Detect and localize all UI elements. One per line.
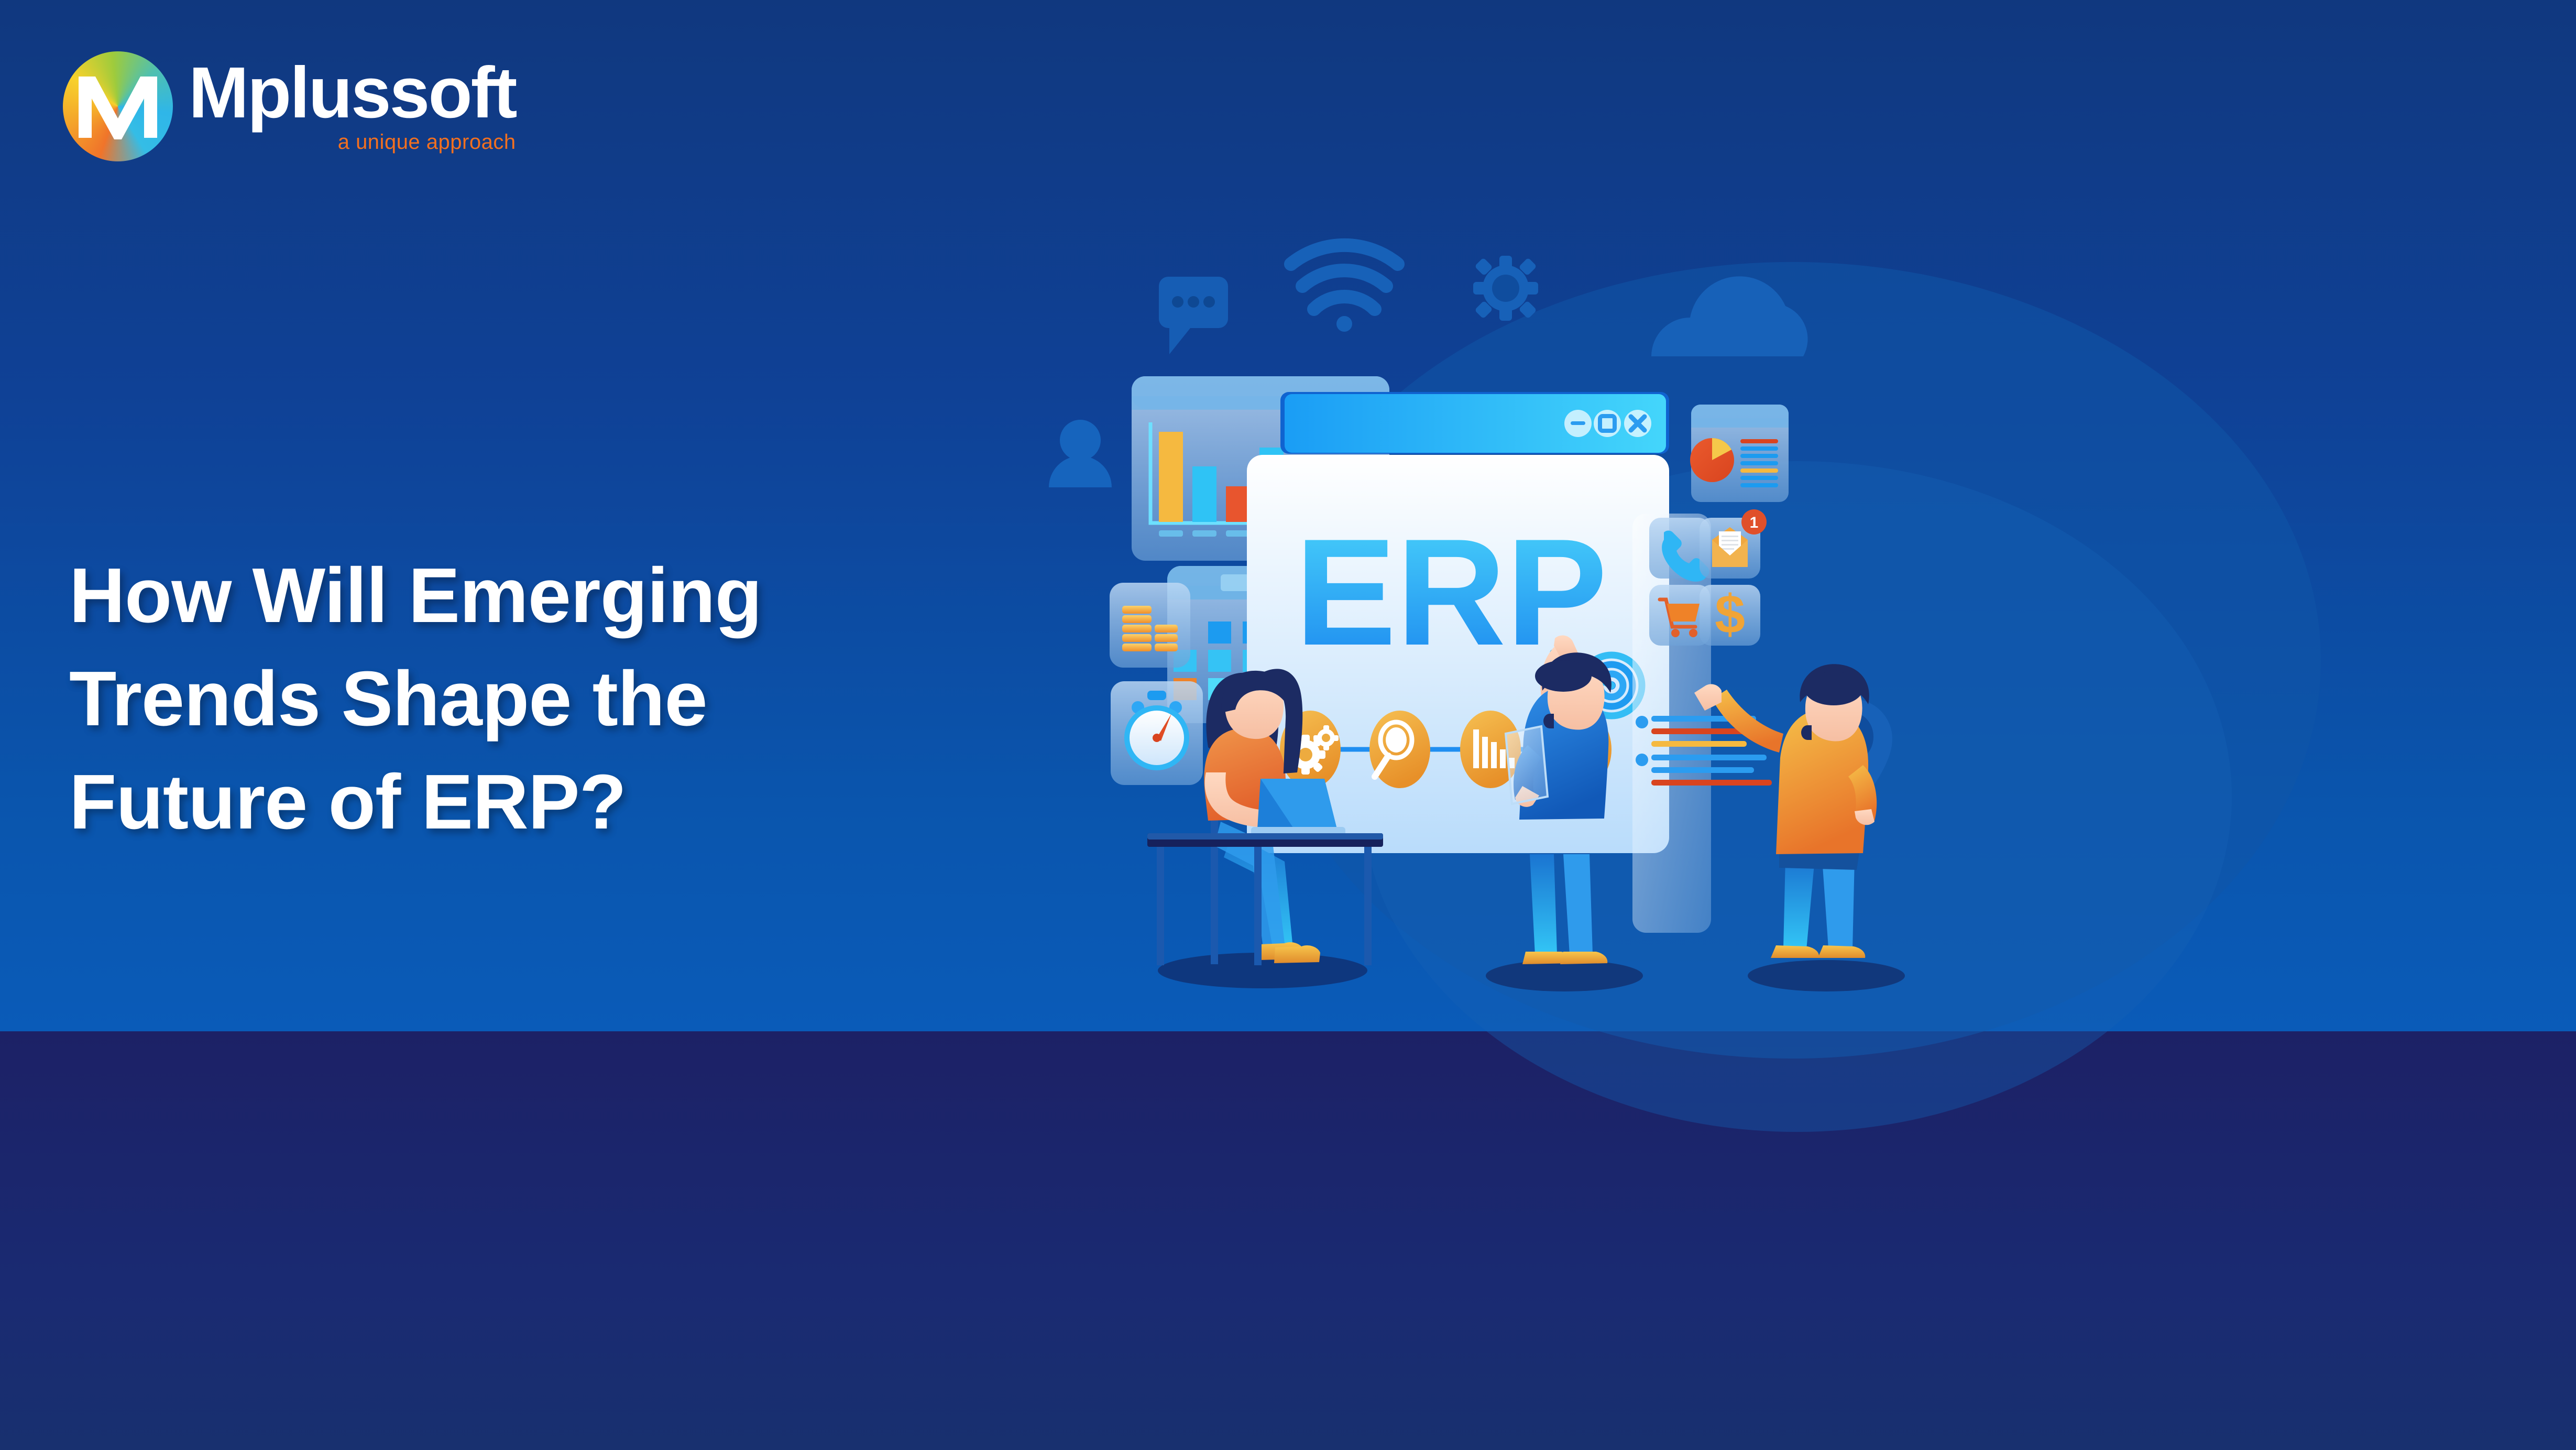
gear-icon <box>1473 256 1538 321</box>
brand-logo-text: Mplussoft a unique approach <box>189 51 516 154</box>
mplussoft-m-logo-icon <box>63 51 173 161</box>
erp-blog-banner: Mplussoft a unique approach How Will Eme… <box>0 0 2576 1450</box>
brand-name: Mplussoft <box>189 60 516 126</box>
headline-line-2: Trends Shape the <box>69 648 1096 751</box>
maximize-button[interactable] <box>1594 410 1621 437</box>
wifi-icon <box>1291 245 1398 332</box>
erp-illustration: ERP <box>1048 210 2576 1258</box>
mail-badge-count: 1 <box>1750 514 1759 531</box>
cart-basket <box>1667 604 1700 622</box>
pie-chart-icon <box>1690 438 1734 482</box>
headline-line-3: Future of ERP? <box>69 751 1096 854</box>
minimize-icon <box>1571 421 1585 425</box>
process-icon-search[interactable] <box>1369 711 1430 788</box>
person-icon <box>1049 420 1112 487</box>
headline-line-1: How Will Emerging <box>69 544 1096 648</box>
woman-shoe-2 <box>1274 945 1320 963</box>
dollar-card[interactable]: $ <box>1700 584 1760 646</box>
window-controls[interactable] <box>1564 410 1651 437</box>
coins-card[interactable] <box>1110 583 1190 668</box>
page-title: How Will Emerging Trends Shape the Futur… <box>69 544 1096 854</box>
tablet <box>1506 726 1548 804</box>
mail-card[interactable]: 1 <box>1700 509 1767 579</box>
brand-tagline: a unique approach <box>189 130 516 154</box>
brand-logo[interactable]: Mplussoft a unique approach <box>63 51 516 161</box>
dollar-icon: $ <box>1715 584 1745 645</box>
pie-chart-card[interactable] <box>1690 405 1789 502</box>
logo-m-glyph <box>63 51 173 161</box>
chat-bubble-icon <box>1159 277 1228 354</box>
stopwatch-card[interactable] <box>1111 681 1203 785</box>
